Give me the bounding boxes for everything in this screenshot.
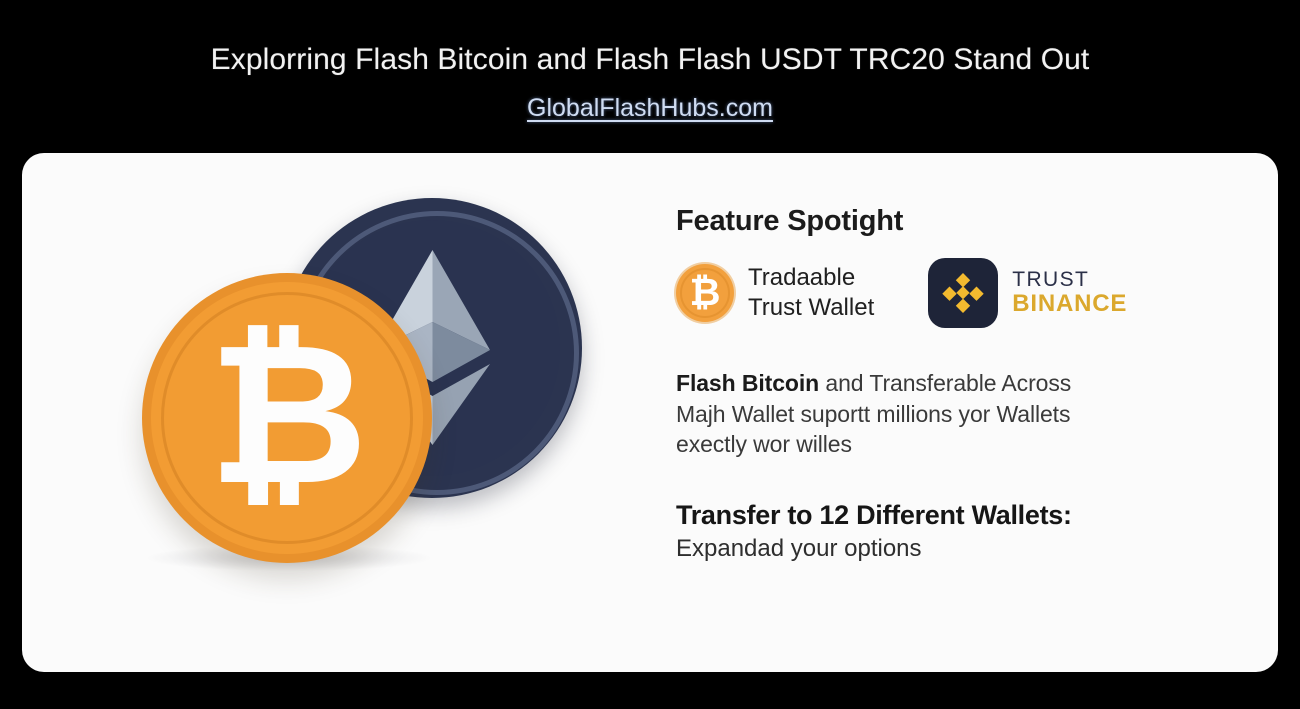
binance-logo-icon	[928, 258, 998, 328]
feature-body-line-2: Majh Wallet suportt millions yor Wallets	[676, 399, 1252, 430]
feature-content: Feature Spotight ₿ Tradaable Trust Walle…	[654, 153, 1278, 672]
brand-binance-label: BINANCE	[1012, 291, 1127, 317]
feature-body: Flash Bitcoin and Transferable Across Ma…	[676, 368, 1252, 460]
transfer-title: Transfer to 12 Different Wallets:	[676, 500, 1252, 531]
site-link[interactable]: GlobalFlashHubs.com	[527, 94, 773, 123]
spotlight-item-trust-wallet[interactable]: ₿ Tradaable Trust Wallet	[676, 263, 874, 322]
feature-body-line-3: exectly wor willes	[676, 429, 1252, 460]
bitcoin-coin-icon: ₿	[142, 273, 432, 563]
feature-body-lead-rest: and Transferable Across	[819, 370, 1071, 396]
page-title: Explorring Flash Bitcoin and Flash Flash…	[0, 42, 1300, 78]
transfer-block: Transfer to 12 Different Wallets: Expand…	[676, 500, 1252, 563]
bitcoin-symbol-icon: ₿	[142, 273, 432, 563]
coin-stage: ₿	[132, 193, 592, 623]
header: Explorring Flash Bitcoin and Flash Flash…	[0, 0, 1300, 123]
bitcoin-symbol-icon-small: ₿	[676, 264, 734, 322]
crypto-illustration: ₿	[22, 153, 642, 672]
bitcoin-coin-icon-small: ₿	[676, 264, 734, 322]
spotlight-label-line-2: Trust Wallet	[748, 293, 874, 323]
spotlight-row: ₿ Tradaable Trust Wallet	[676, 258, 1252, 328]
transfer-subtitle: Expandad your options	[676, 535, 1252, 563]
feature-body-line-1: Flash Bitcoin and Transferable Across	[676, 368, 1252, 399]
spotlight-label-line-1: Tradaable	[748, 263, 874, 293]
page-root: Explorring Flash Bitcoin and Flash Flash…	[0, 0, 1300, 709]
brand-trust-label: TRUST	[1012, 269, 1127, 292]
feature-body-lead-bold: Flash Bitcoin	[676, 370, 819, 396]
spotlight-label-trust-wallet: Tradaable Trust Wallet	[748, 263, 874, 322]
binance-diamond-icon	[940, 270, 986, 316]
binance-brand-text: TRUST BINANCE	[1012, 269, 1127, 318]
section-title: Feature Spotight	[676, 205, 1252, 238]
spotlight-item-binance[interactable]: TRUST BINANCE	[928, 258, 1127, 328]
content-card: ₿ Feature Spotight ₿ Tradaable Trust Wal…	[22, 153, 1278, 672]
